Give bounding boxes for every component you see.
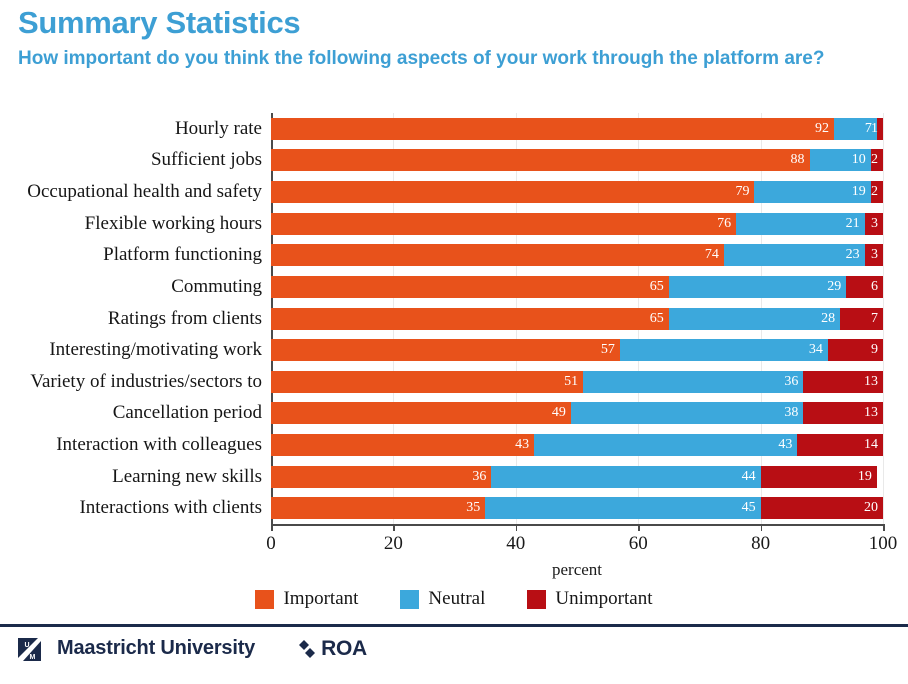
category-label: Interaction with colleagues bbox=[56, 434, 271, 456]
category-label: Hourly rate bbox=[175, 118, 271, 140]
bar-segment-unimportant[interactable]: 9 bbox=[828, 339, 883, 361]
bar-value-label: 2 bbox=[871, 153, 878, 167]
category-label: Flexible working hours bbox=[85, 213, 271, 235]
legend-label: Important bbox=[283, 588, 358, 610]
bar-segment-important[interactable]: 36 bbox=[271, 466, 491, 488]
bar-segment-unimportant[interactable]: 7 bbox=[840, 308, 883, 330]
bar-row[interactable]: Interaction with colleagues434314 bbox=[271, 434, 883, 456]
legend-swatch bbox=[527, 590, 546, 609]
category-label: Interesting/motivating work bbox=[49, 339, 271, 361]
chart: 020406080100 Hourly rate9271Sufficient j… bbox=[0, 104, 908, 584]
bar-row[interactable]: Interactions with clients354520 bbox=[271, 497, 883, 519]
bar-segment-neutral[interactable]: 21 bbox=[736, 213, 865, 235]
x-axis-tick bbox=[271, 524, 273, 531]
bar-segment-neutral[interactable]: 28 bbox=[669, 308, 840, 330]
footer-logos: U M Maastricht University ROA bbox=[0, 634, 367, 664]
x-axis-tick bbox=[761, 524, 763, 531]
bar-segment-unimportant[interactable]: 6 bbox=[846, 276, 883, 298]
bar-segment-unimportant[interactable]: 3 bbox=[865, 244, 883, 266]
bar-segment-important[interactable]: 65 bbox=[271, 276, 669, 298]
bar-value-label: 9 bbox=[871, 343, 878, 357]
bar-value-label: 3 bbox=[871, 248, 878, 262]
category-label: Variety of industries/sectors to bbox=[30, 371, 271, 393]
slide-footer: U M Maastricht University ROA bbox=[0, 624, 908, 684]
gridline bbox=[883, 113, 884, 524]
maastricht-university-logo: U M Maastricht University bbox=[16, 634, 255, 664]
bar-value-label: 13 bbox=[864, 375, 878, 389]
x-axis-tick-label: 20 bbox=[384, 533, 403, 555]
x-axis-line bbox=[271, 524, 883, 526]
bar-segment-neutral[interactable]: 44 bbox=[491, 466, 760, 488]
bar-segment-important[interactable]: 51 bbox=[271, 371, 583, 393]
slide: Summary Statistics How important do you … bbox=[0, 0, 908, 684]
page-title: Summary Statistics bbox=[18, 4, 890, 42]
bar-value-label: 29 bbox=[827, 280, 841, 294]
bar-segment-important[interactable]: 88 bbox=[271, 149, 810, 171]
bar-value-label: 57 bbox=[601, 343, 615, 357]
chart-legend: ImportantNeutralUnimportant bbox=[0, 588, 908, 610]
category-label: Learning new skills bbox=[112, 466, 271, 488]
plot-area: 020406080100 Hourly rate9271Sufficient j… bbox=[271, 113, 883, 524]
bar-row[interactable]: Sufficient jobs88102 bbox=[271, 149, 883, 171]
institute-name: ROA bbox=[321, 637, 367, 661]
bar-segment-important[interactable]: 57 bbox=[271, 339, 620, 361]
bar-value-label: 2 bbox=[871, 185, 878, 199]
bar-segment-important[interactable]: 76 bbox=[271, 213, 736, 235]
x-axis-tick-label: 0 bbox=[266, 533, 276, 555]
bar-value-label: 10 bbox=[852, 153, 866, 167]
x-axis-tick bbox=[638, 524, 640, 531]
bar-value-label: 44 bbox=[742, 470, 756, 484]
legend-swatch bbox=[255, 590, 274, 609]
x-axis-tick-label: 80 bbox=[751, 533, 770, 555]
category-label: Occupational health and safety bbox=[27, 181, 271, 203]
bar-row[interactable]: Occupational health and safety79192 bbox=[271, 181, 883, 203]
bar-segment-unimportant[interactable]: 3 bbox=[865, 213, 883, 235]
bar-segment-neutral[interactable]: 43 bbox=[534, 434, 797, 456]
bar-segment-unimportant[interactable]: 2 bbox=[871, 149, 883, 171]
bar-segment-important[interactable]: 92 bbox=[271, 118, 834, 140]
page-subtitle: How important do you think the following… bbox=[18, 45, 876, 72]
bar-segment-neutral[interactable]: 38 bbox=[571, 402, 804, 424]
slide-header: Summary Statistics How important do you … bbox=[18, 4, 890, 72]
category-label: Ratings from clients bbox=[108, 308, 271, 330]
bar-segment-neutral[interactable]: 19 bbox=[754, 181, 870, 203]
x-axis-tick bbox=[393, 524, 395, 531]
category-label: Sufficient jobs bbox=[151, 149, 271, 171]
bar-row[interactable]: Cancellation period493813 bbox=[271, 402, 883, 424]
bar-segment-important[interactable]: 79 bbox=[271, 181, 754, 203]
bar-segment-unimportant[interactable]: 19 bbox=[761, 466, 877, 488]
bar-value-label: 3 bbox=[871, 217, 878, 231]
bar-value-label: 65 bbox=[650, 312, 664, 326]
bar-value-label: 21 bbox=[846, 217, 860, 231]
roa-diamond-icon bbox=[295, 637, 319, 661]
bar-segment-unimportant[interactable]: 1 bbox=[877, 118, 883, 140]
category-label: Commuting bbox=[171, 276, 271, 298]
bar-value-label: 7 bbox=[871, 312, 878, 326]
bar-value-label: 23 bbox=[846, 248, 860, 262]
bar-row[interactable]: Learning new skills364419 bbox=[271, 466, 883, 488]
bar-segment-neutral[interactable]: 10 bbox=[810, 149, 871, 171]
svg-text:M: M bbox=[30, 654, 36, 661]
bar-segment-important[interactable]: 74 bbox=[271, 244, 724, 266]
bar-value-label: 20 bbox=[864, 501, 878, 515]
legend-item[interactable]: Important bbox=[255, 588, 358, 610]
bar-segment-unimportant[interactable]: 20 bbox=[761, 497, 883, 519]
bar-segment-unimportant[interactable]: 13 bbox=[803, 402, 883, 424]
bar-value-label: 19 bbox=[858, 470, 872, 484]
roa-logo: ROA bbox=[295, 637, 367, 661]
bar-segment-unimportant[interactable]: 14 bbox=[797, 434, 883, 456]
bar-segment-important[interactable]: 65 bbox=[271, 308, 669, 330]
legend-swatch bbox=[400, 590, 419, 609]
um-triangle-icon: U M bbox=[16, 634, 46, 664]
bar-value-label: 43 bbox=[515, 438, 529, 452]
bar-value-label: 65 bbox=[650, 280, 664, 294]
bar-segment-neutral[interactable]: 29 bbox=[669, 276, 846, 298]
bar-value-label: 19 bbox=[852, 185, 866, 199]
x-axis-tick bbox=[883, 524, 885, 531]
bar-segment-neutral[interactable]: 23 bbox=[724, 244, 865, 266]
bar-segment-unimportant[interactable]: 13 bbox=[803, 371, 883, 393]
bar-value-label: 92 bbox=[815, 122, 829, 136]
bar-row[interactable]: Variety of industries/sectors to513613 bbox=[271, 371, 883, 393]
bar-segment-important[interactable]: 49 bbox=[271, 402, 571, 424]
bar-value-label: 49 bbox=[552, 406, 566, 420]
bar-value-label: 51 bbox=[564, 375, 578, 389]
category-label: Platform functioning bbox=[103, 244, 271, 266]
bar-row[interactable]: Platform functioning74233 bbox=[271, 244, 883, 266]
bar-value-label: 28 bbox=[821, 312, 835, 326]
bar-value-label: 45 bbox=[742, 501, 756, 515]
bar-segment-neutral[interactable]: 45 bbox=[485, 497, 760, 519]
bar-value-label: 1 bbox=[871, 122, 878, 136]
bar-row[interactable]: Commuting65296 bbox=[271, 276, 883, 298]
bar-segment-important[interactable]: 35 bbox=[271, 497, 485, 519]
x-axis-title: percent bbox=[552, 560, 602, 580]
bar-value-label: 35 bbox=[466, 501, 480, 515]
bar-value-label: 36 bbox=[472, 470, 486, 484]
bar-segment-unimportant[interactable]: 2 bbox=[871, 181, 883, 203]
category-label: Interactions with clients bbox=[79, 497, 271, 519]
bar-value-label: 76 bbox=[717, 217, 731, 231]
bar-value-label: 74 bbox=[705, 248, 719, 262]
bar-segment-important[interactable]: 43 bbox=[271, 434, 534, 456]
x-axis-tick-label: 100 bbox=[869, 533, 898, 555]
legend-item[interactable]: Unimportant bbox=[527, 588, 652, 610]
bar-value-label: 38 bbox=[784, 406, 798, 420]
svg-text:U: U bbox=[25, 642, 30, 649]
bar-value-label: 6 bbox=[871, 280, 878, 294]
bar-value-label: 34 bbox=[809, 343, 823, 357]
x-axis-tick-label: 40 bbox=[506, 533, 525, 555]
legend-label: Neutral bbox=[428, 588, 485, 610]
bar-row[interactable]: Ratings from clients65287 bbox=[271, 308, 883, 330]
bar-value-label: 36 bbox=[784, 375, 798, 389]
category-label: Cancellation period bbox=[113, 402, 271, 424]
bar-value-label: 43 bbox=[778, 438, 792, 452]
bar-segment-neutral[interactable]: 36 bbox=[583, 371, 803, 393]
university-name: Maastricht University bbox=[57, 637, 255, 660]
bar-row[interactable]: Hourly rate9271 bbox=[271, 118, 883, 140]
bar-value-label: 79 bbox=[735, 185, 749, 199]
bar-value-label: 13 bbox=[864, 406, 878, 420]
x-axis-tick bbox=[516, 524, 518, 531]
bar-value-label: 88 bbox=[791, 153, 805, 167]
bar-value-label: 14 bbox=[864, 438, 878, 452]
bar-row[interactable]: Interesting/motivating work57349 bbox=[271, 339, 883, 361]
x-axis-tick-label: 60 bbox=[629, 533, 648, 555]
legend-label: Unimportant bbox=[555, 588, 652, 610]
legend-item[interactable]: Neutral bbox=[400, 588, 485, 610]
bar-row[interactable]: Flexible working hours76213 bbox=[271, 213, 883, 235]
bar-segment-neutral[interactable]: 34 bbox=[620, 339, 828, 361]
